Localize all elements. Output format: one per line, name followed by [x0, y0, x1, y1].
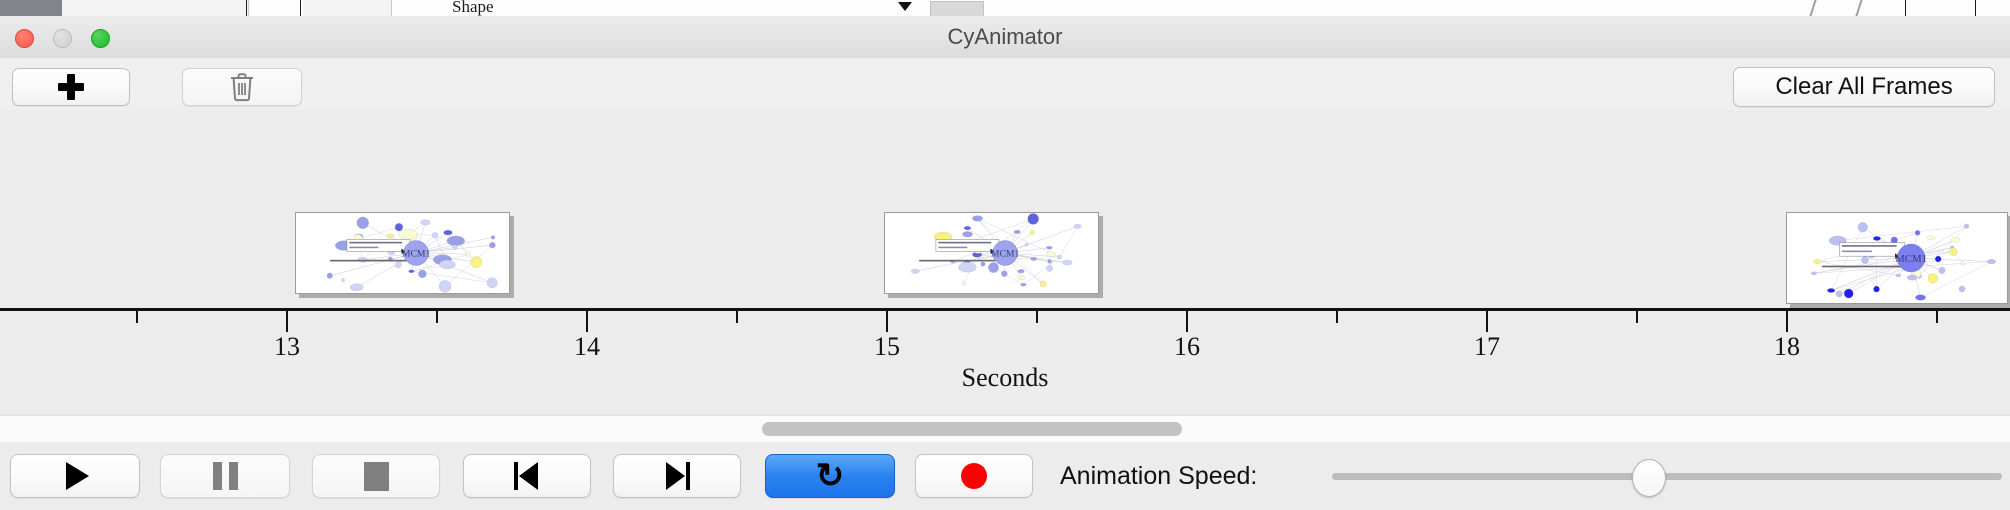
background-strip-tick — [1975, 0, 1976, 16]
timeline-tick — [436, 311, 438, 323]
background-strip-segment — [303, 0, 392, 16]
stop-icon — [364, 462, 389, 491]
loop-icon: ↻ — [816, 459, 845, 493]
background-strip-segment — [62, 0, 191, 16]
timeline-tick-label: 15 — [874, 332, 900, 362]
record-icon — [961, 463, 987, 489]
skip-previous-icon — [514, 462, 540, 490]
trash-icon — [229, 72, 255, 102]
background-strip-slash — [1855, 0, 1876, 16]
timeline-axis-line — [0, 308, 2010, 311]
background-strip-tick — [246, 0, 247, 16]
toolbar: Clear All Frames — [0, 58, 2010, 111]
background-strip-slash — [1809, 0, 1830, 16]
network-graph: MCM1 — [885, 213, 1098, 293]
playback-control-bar: ↻ Animation Speed: — [0, 442, 2010, 510]
timeline-panel[interactable]: MCM1MCM1MCM1 12131415161718 Seconds — [0, 110, 2010, 415]
hub-node-label: MCM1 — [991, 249, 1020, 260]
frame-thumbnail-3[interactable]: MCM1 — [1786, 212, 2008, 304]
add-frame-button[interactable] — [12, 68, 130, 106]
timeline-tick — [286, 311, 288, 332]
skip-next-icon — [664, 462, 690, 490]
timeline-tick-label: 17 — [1474, 332, 1500, 362]
timeline-tick — [1786, 311, 1788, 332]
timeline-tick — [1036, 311, 1038, 323]
animation-speed-label: Animation Speed: — [1060, 442, 1257, 510]
clear-all-frames-button[interactable]: Clear All Frames — [1733, 67, 1995, 107]
frames-layer: MCM1MCM1MCM1 — [0, 110, 2010, 310]
next-frame-button[interactable] — [613, 454, 741, 498]
timeline-tick — [1336, 311, 1338, 323]
plus-icon — [58, 74, 84, 100]
network-graph: MCM1 — [1787, 213, 2007, 303]
previous-frame-button[interactable] — [463, 454, 591, 498]
frame-thumbnail-2[interactable]: MCM1 — [884, 212, 1099, 294]
timeline-tick-label: 18 — [1774, 332, 1800, 362]
timeline-tick — [1636, 311, 1638, 323]
timeline-tick — [136, 311, 138, 323]
background-strip-tick — [300, 0, 301, 16]
background-window-strip: Shape — [0, 0, 2010, 17]
timeline-axis-title: Seconds — [0, 363, 2010, 393]
timeline-tick-label: 13 — [274, 332, 300, 362]
hub-node-label: MCM1 — [1895, 253, 1927, 265]
delete-frame-button[interactable] — [182, 68, 302, 106]
timeline-tick — [1486, 311, 1488, 332]
animation-speed-slider-track[interactable] — [1332, 473, 2002, 480]
play-button[interactable] — [10, 454, 140, 498]
timeline-tick — [1186, 311, 1188, 332]
loop-button[interactable]: ↻ — [765, 454, 895, 498]
play-icon — [66, 462, 89, 490]
window-title: CyAnimator — [0, 16, 2010, 58]
timeline-tick — [886, 311, 888, 332]
background-shape-label: Shape — [452, 0, 494, 17]
frame-thumbnail-1[interactable]: MCM1 — [295, 212, 510, 294]
timeline-tick-label: 16 — [1174, 332, 1200, 362]
background-strip-arrow-icon — [898, 2, 912, 11]
hub-node-label: MCM1 — [402, 249, 431, 260]
timeline-tick — [586, 311, 588, 332]
pause-icon — [213, 462, 238, 490]
timeline-tick — [1936, 311, 1938, 323]
animation-speed-slider-thumb[interactable] — [1632, 459, 1666, 497]
timeline-tick — [736, 311, 738, 323]
background-strip-tick — [1905, 0, 1906, 16]
network-graph: MCM1 — [296, 213, 509, 293]
cyanimator-window: Shape CyAnimator Clear All Frames — [0, 0, 2010, 510]
background-strip-dark-block — [0, 0, 62, 16]
title-bar: CyAnimator — [0, 16, 2010, 59]
background-strip-box — [930, 1, 984, 17]
animation-speed-slider[interactable] — [1332, 442, 2002, 510]
timeline-scrollbar-thumb[interactable] — [762, 422, 1182, 436]
timeline-scrollbar[interactable] — [0, 415, 2010, 443]
background-strip-segment — [190, 0, 249, 16]
record-button[interactable] — [915, 454, 1033, 498]
timeline-tick-label: 14 — [574, 332, 600, 362]
stop-button[interactable] — [312, 454, 440, 498]
pause-button[interactable] — [160, 454, 290, 498]
clear-all-frames-label: Clear All Frames — [1775, 73, 1952, 101]
